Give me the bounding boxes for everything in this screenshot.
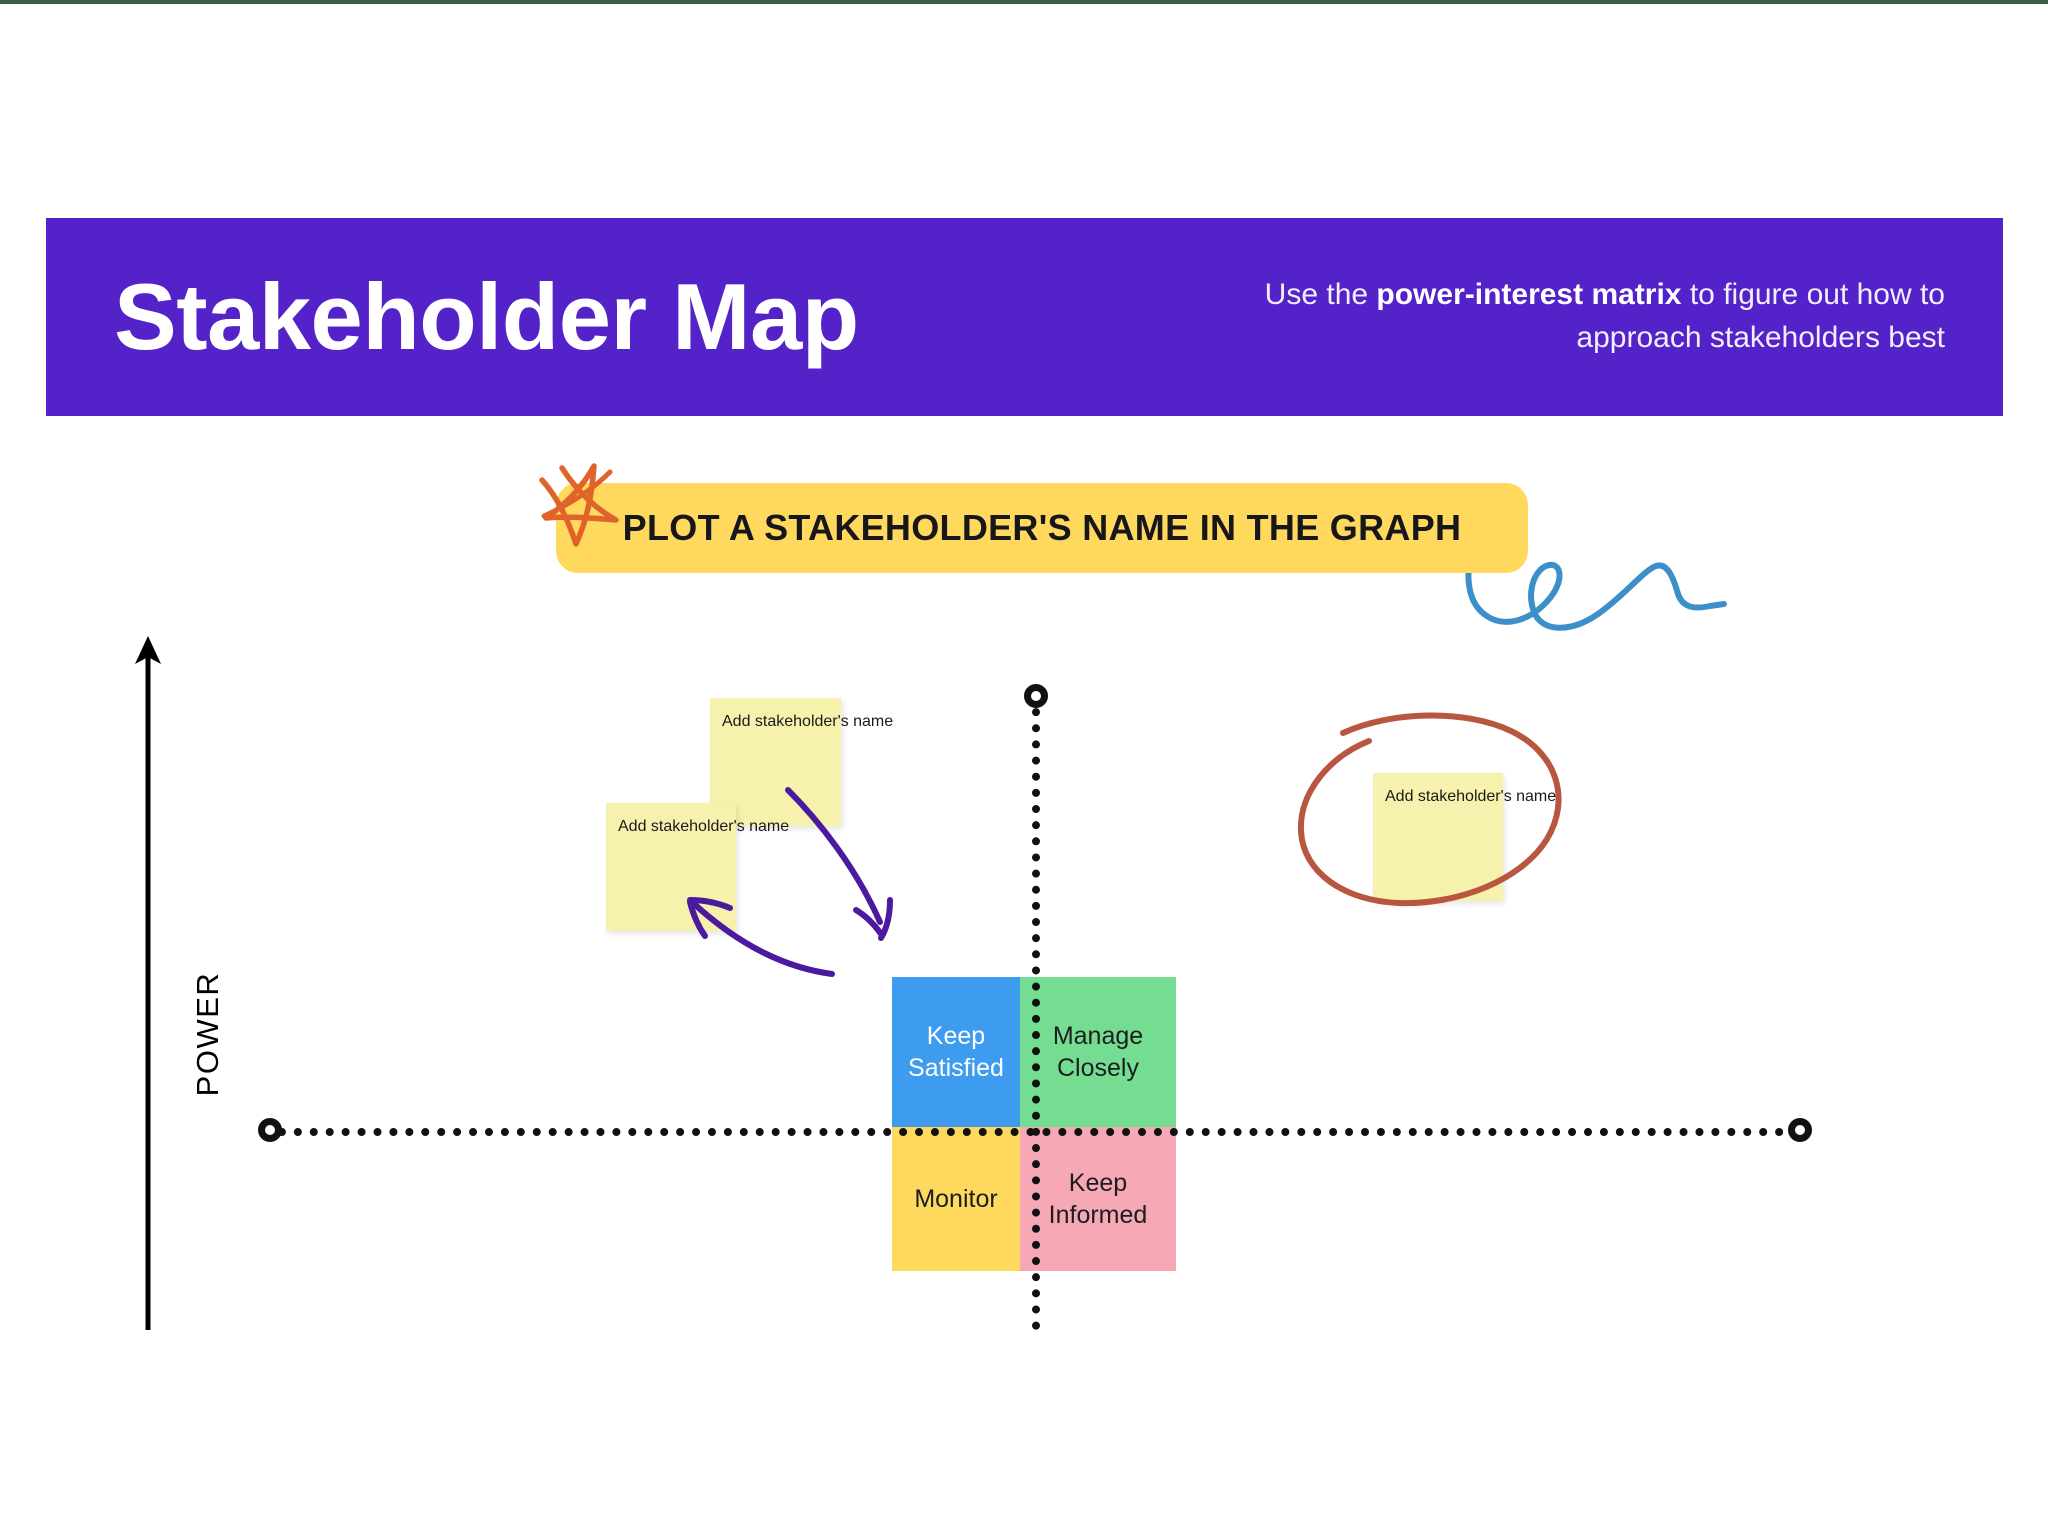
sticky-note-text: Add stakeholder's name [722,712,829,731]
power-axis-label: POWER [184,934,232,1134]
header-subtitle-emphasis: power-interest matrix [1376,278,1681,311]
page-top-strip [0,0,2048,4]
sticky-note[interactable]: Add stakeholder's name [1373,773,1503,901]
quadrant-keep-informed[interactable]: KeepInformed [1020,1127,1176,1271]
quadrant-keep-informed-label: KeepInformed [1049,1167,1148,1231]
axis-endpoint-right-icon [1788,1118,1812,1142]
quadrant-manage-closely[interactable]: ManageClosely [1020,977,1176,1127]
quadrant-manage-closely-label: ManageClosely [1053,1020,1143,1084]
header-subtitle: Use the power-interest matrix to figure … [1225,274,1945,359]
axis-endpoint-top-icon [1024,684,1048,708]
quadrant-monitor-label: Monitor [914,1183,997,1215]
axis-endpoint-left-icon [258,1118,282,1142]
instruction-label: PLOT A STAKEHOLDER'S NAME IN THE GRAPH [623,507,1462,549]
power-axis-line [128,630,168,1335]
interest-axis-dotted-line [262,1128,1800,1136]
sticky-note-text: Add stakeholder's name [1385,787,1491,806]
page-title: Stakeholder Map [114,270,859,364]
header-band: Stakeholder Map Use the power-interest m… [46,218,2003,416]
quadrant-keep-satisfied-label: KeepSatisfied [908,1020,1004,1084]
quadrant-keep-satisfied[interactable]: KeepSatisfied [892,977,1020,1127]
header-subtitle-lead: Use the [1265,278,1377,311]
sticky-note-text: Add stakeholder's name [618,817,724,836]
power-divider-dotted-line [1032,692,1040,1330]
sticky-note[interactable]: Add stakeholder's name [606,803,736,931]
quadrant-monitor[interactable]: Monitor [892,1127,1020,1271]
instruction-banner: PLOT A STAKEHOLDER'S NAME IN THE GRAPH [556,483,1528,573]
